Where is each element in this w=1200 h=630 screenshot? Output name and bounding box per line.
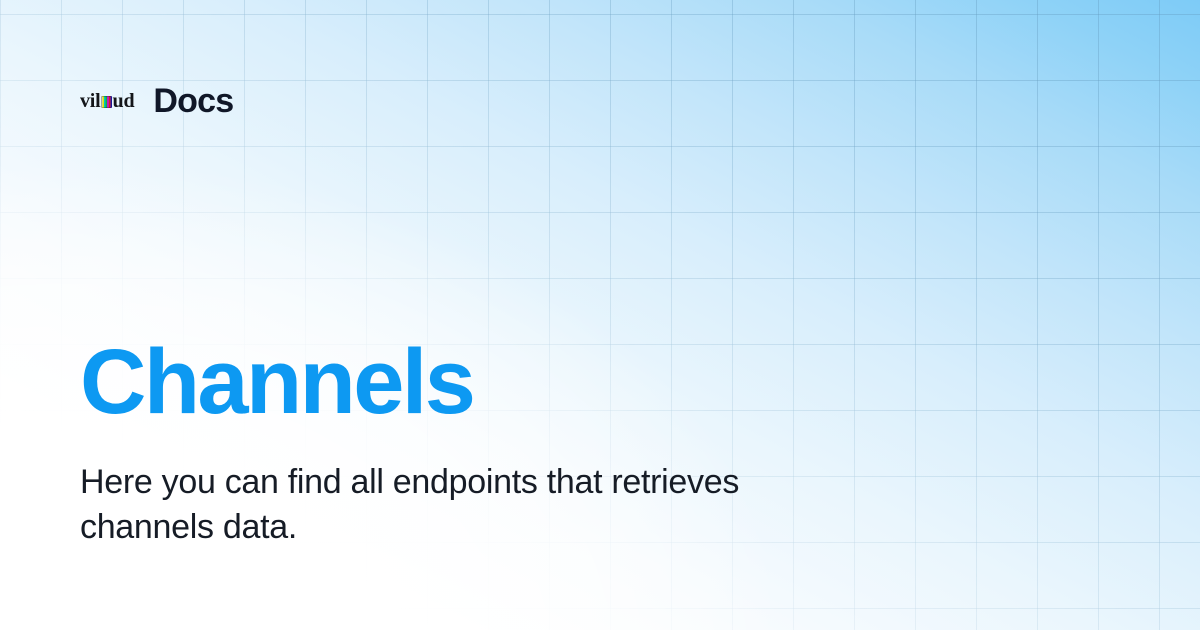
logo-text-before: vil — [80, 91, 101, 111]
brand-header[interactable]: vilud Docs — [80, 84, 233, 118]
docs-title: Docs — [153, 84, 233, 118]
page-description: Here you can find all endpoints that ret… — [80, 460, 870, 550]
viloud-logo[interactable]: vilud — [80, 91, 134, 111]
og-card: vilud Docs Channels Here you can find al… — [0, 0, 1200, 630]
main-content: Channels Here you can find all endpoints… — [80, 336, 910, 550]
page-title: Channels — [80, 336, 910, 428]
color-bars-square-icon — [101, 96, 112, 108]
logo-text-after: ud — [113, 91, 135, 111]
